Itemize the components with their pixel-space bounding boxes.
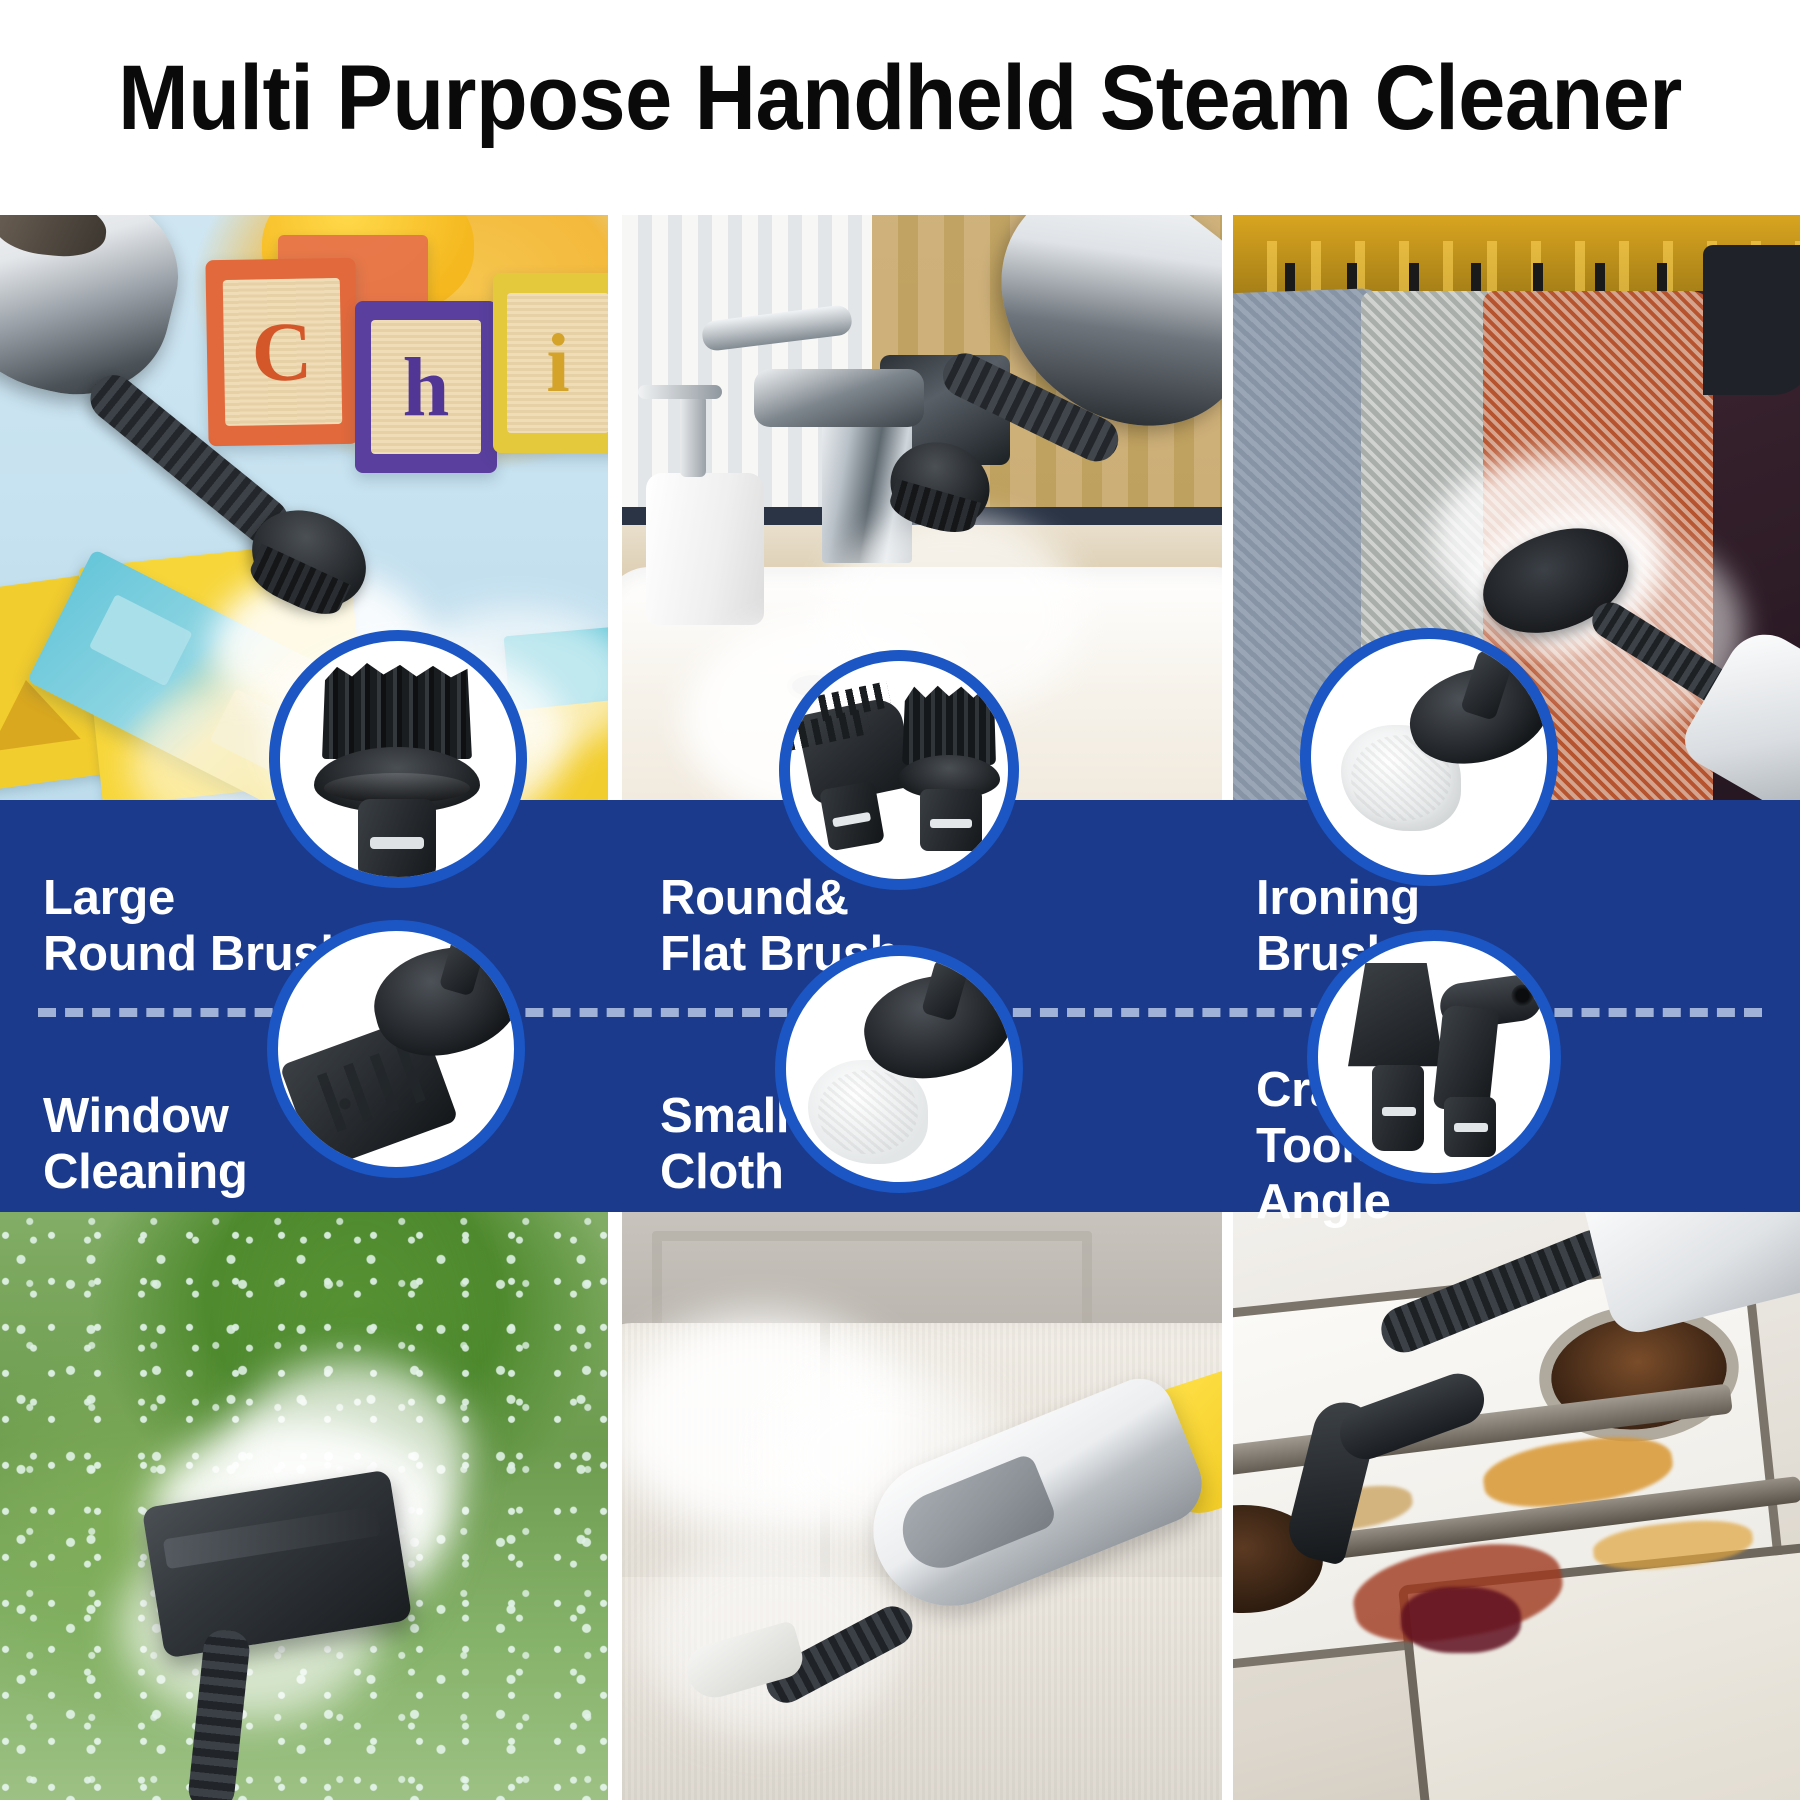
feature-label-small-cloth: Small Cloth bbox=[660, 1088, 789, 1200]
block-letter-c: C bbox=[222, 278, 342, 425]
block-letter-i: i bbox=[507, 293, 608, 433]
photo-gas-stove bbox=[1233, 1205, 1800, 1800]
accessory-circle-large-round-brush bbox=[269, 630, 527, 888]
window-cleaning-tool-icon bbox=[278, 931, 514, 1167]
round-brush-bristles bbox=[902, 685, 996, 765]
feature-label-window-cleaning: Window Cleaning bbox=[43, 1088, 248, 1200]
flat-brush-stem bbox=[819, 781, 885, 852]
soap-dispenser bbox=[646, 473, 764, 625]
brush-stem bbox=[358, 799, 436, 883]
scraper-stem bbox=[1372, 1065, 1424, 1151]
toy-block-c: C bbox=[205, 258, 358, 447]
photo-sofa-fabric bbox=[622, 1205, 1222, 1800]
page-title: Multi Purpose Handheld Steam Cleaner bbox=[72, 46, 1728, 150]
accessory-circle-window-cleaning bbox=[267, 920, 525, 1178]
round-and-flat-brush-icon bbox=[790, 661, 1008, 879]
round-brush-stem bbox=[920, 789, 982, 851]
scraping-tool-and-angle-nozzle-icon bbox=[1318, 941, 1550, 1173]
toy-block-i: i bbox=[493, 273, 608, 453]
angle-nozzle-stem bbox=[1444, 1097, 1496, 1157]
accessory-circle-round-flat-brush bbox=[779, 650, 1019, 890]
brush-bristles bbox=[322, 663, 472, 759]
toy-block-h: h bbox=[355, 301, 497, 473]
suit-collar bbox=[1703, 245, 1800, 395]
infographic-page: Multi Purpose Handheld Steam Cleaner C h… bbox=[0, 0, 1800, 1800]
accessory-circle-ironing-brushe bbox=[1300, 628, 1558, 886]
small-cloth-icon bbox=[786, 956, 1012, 1182]
large-round-brush-icon bbox=[280, 641, 516, 877]
accessory-circle-craping-tool-angle bbox=[1307, 930, 1561, 1184]
grease-stain bbox=[1401, 1587, 1521, 1653]
accessory-circle-small-cloth bbox=[775, 945, 1023, 1193]
ironing-brush-icon bbox=[1311, 639, 1547, 875]
block-letter-h: h bbox=[371, 320, 482, 454]
